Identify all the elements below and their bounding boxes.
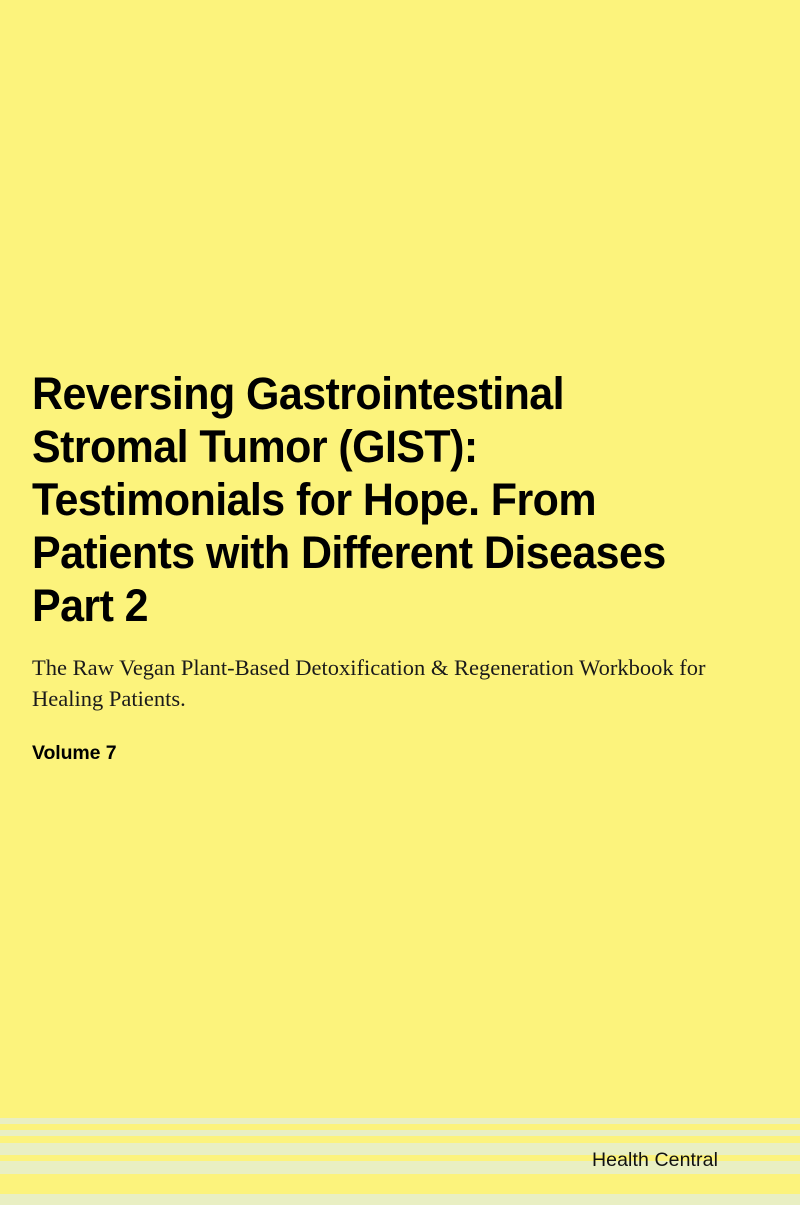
volume-label: Volume 7 — [32, 714, 732, 765]
page-title: Reversing Gastrointestinal Stromal Tumor… — [32, 367, 681, 632]
book-cover: Reversing Gastrointestinal Stromal Tumor… — [0, 0, 800, 1205]
publisher-name: Health Central — [0, 1148, 800, 1172]
cover-text-block: Reversing Gastrointestinal Stromal Tumor… — [32, 367, 732, 765]
stripe-2 — [0, 1130, 800, 1136]
stripe-5 — [0, 1194, 800, 1205]
cover-subtitle: The Raw Vegan Plant-Based Detoxification… — [32, 632, 722, 714]
stripe-1 — [0, 1118, 800, 1124]
bottom-stripe-band — [0, 1085, 800, 1205]
